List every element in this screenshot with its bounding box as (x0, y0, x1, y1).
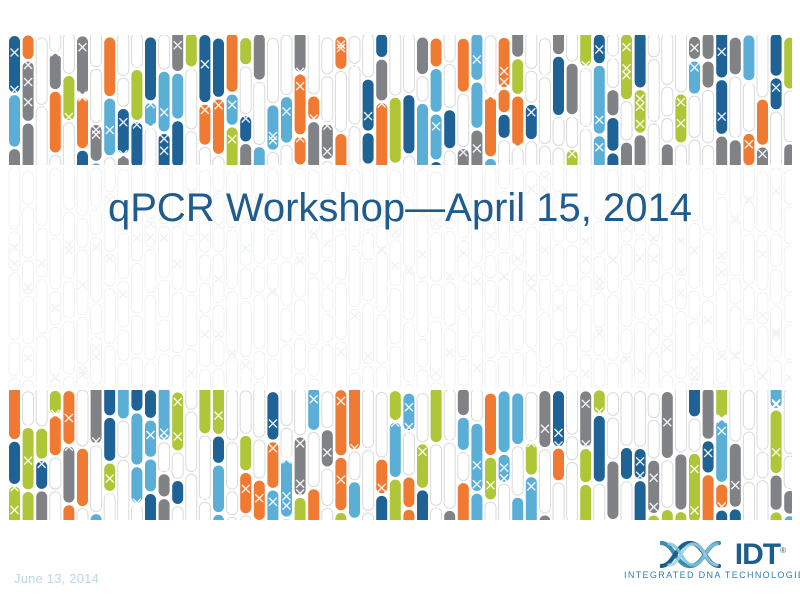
top-decorative-band (8, 35, 792, 165)
chromosome-pattern-bottom (8, 390, 792, 520)
registered-trademark-icon: ® (780, 546, 786, 555)
slide-title: qPCR Workshop—April 15, 2014 (0, 186, 800, 231)
logo-tagline: INTEGRATED DNA TECHNOLOGIES (624, 570, 786, 580)
logo-mark-row: IDT® (624, 539, 786, 569)
idt-logo: IDT® INTEGRATED DNA TECHNOLOGIES (624, 539, 786, 585)
footer-date: June 13, 2014 (14, 571, 99, 586)
logo-wordmark-text: IDT (735, 538, 780, 571)
presentation-slide: qPCR Workshop—April 15, 2014 June 13, 20… (0, 0, 800, 600)
logo-wordmark: IDT® (735, 537, 786, 569)
bottom-decorative-band (8, 390, 792, 520)
dna-helix-icon (660, 540, 734, 569)
chromosome-pattern-top (8, 35, 792, 165)
